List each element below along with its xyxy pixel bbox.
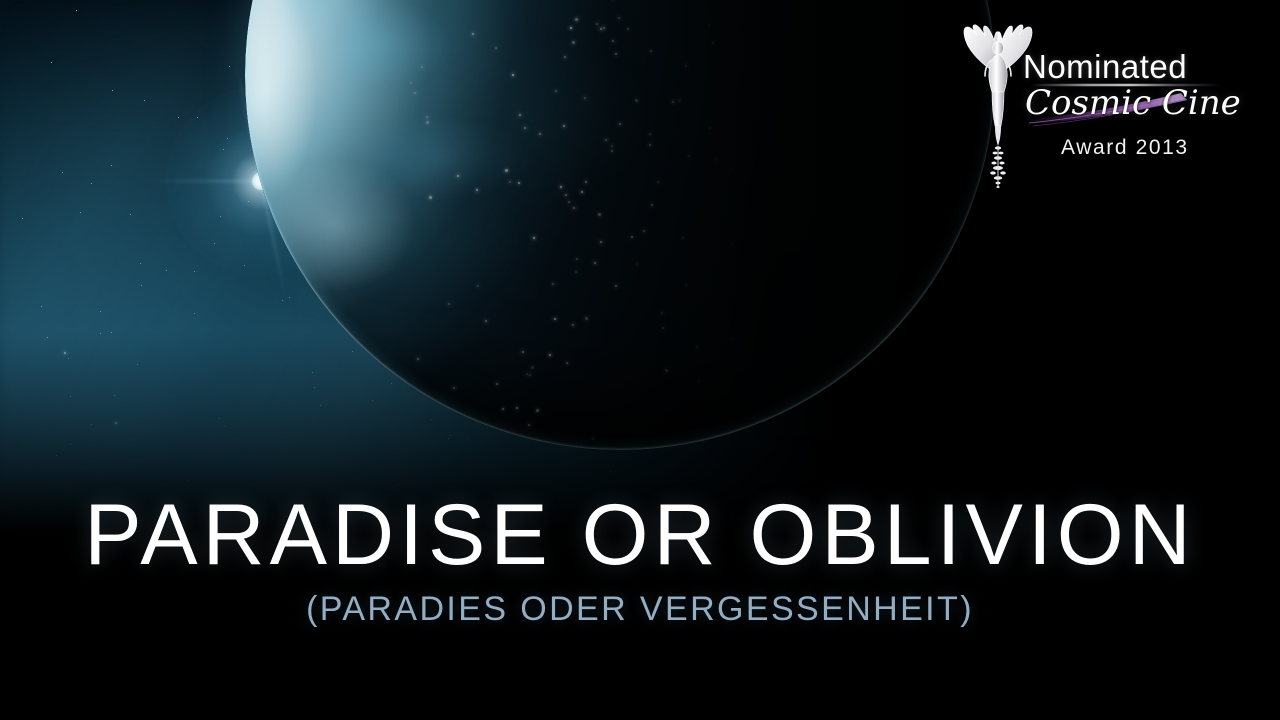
- sub-title: (PARADIES ODER VERGESSENHEIT): [0, 592, 1280, 626]
- award-festival-name: Cosmic Cine: [1025, 86, 1241, 120]
- title-card-stage: Nominated Cosmic Cine Award 2013: [0, 0, 1280, 720]
- award-badge-text: Nominated Cosmic Cine Award 2013: [1023, 18, 1218, 190]
- main-title: PARADISE OR OBLIVION: [0, 492, 1280, 578]
- title-block: PARADISE OR OBLIVION (PARADIES ODER VERG…: [0, 492, 1280, 626]
- award-badge: Nominated Cosmic Cine Award 2013: [955, 18, 1215, 190]
- award-nominated-label: Nominated: [1023, 50, 1187, 83]
- award-year-label: Award 2013: [1061, 136, 1189, 160]
